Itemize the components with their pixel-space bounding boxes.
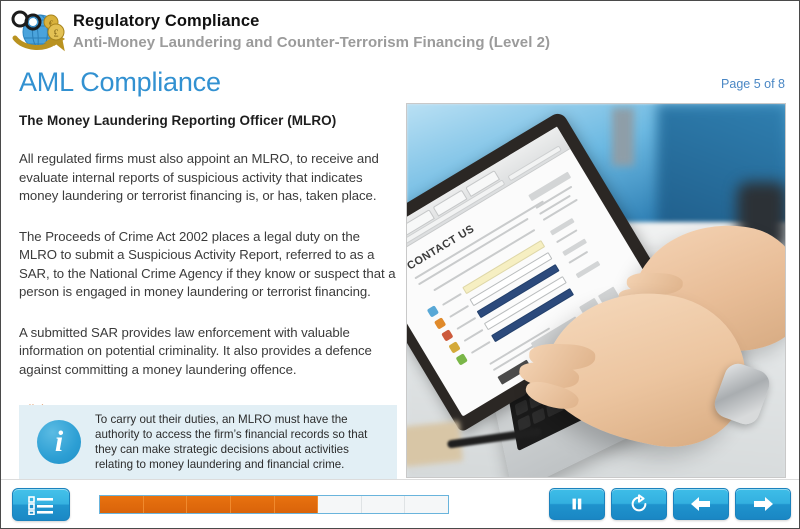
info-callout-text: To carry out their duties, an MLRO must … (95, 412, 397, 473)
section-heading: The Money Laundering Reporting Officer (… (19, 113, 397, 128)
pause-icon (568, 495, 586, 513)
progress-segment[interactable] (275, 496, 319, 513)
next-button[interactable] (735, 488, 791, 520)
progress-segment[interactable] (318, 496, 362, 513)
progress-segment[interactable] (362, 496, 406, 513)
body-paragraph: A submitted SAR provides law enforcement… (19, 324, 397, 380)
course-player-frame: € £ Regulatory Compliance Anti-Money Lau… (0, 0, 800, 529)
course-title: Regulatory Compliance (73, 11, 550, 31)
image-background-post (612, 108, 634, 166)
info-icon: i (37, 420, 81, 464)
progress-segment[interactable] (405, 496, 448, 513)
content-column: The Money Laundering Reporting Officer (… (19, 113, 397, 431)
list-menu-icon (28, 495, 54, 515)
course-subtitle: Anti-Money Laundering and Counter-Terror… (73, 33, 550, 53)
progress-bar[interactable] (99, 495, 449, 514)
header-titles: Regulatory Compliance Anti-Money Launder… (73, 11, 550, 53)
progress-segment[interactable] (231, 496, 275, 513)
pause-button[interactable] (549, 488, 605, 520)
body-paragraph: The Proceeds of Crime Act 2002 places a … (19, 228, 397, 302)
menu-button[interactable] (12, 488, 70, 521)
player-toolbar (1, 479, 799, 528)
arrow-right-icon (751, 495, 775, 513)
replay-button[interactable] (611, 488, 667, 520)
progress-segment[interactable] (187, 496, 231, 513)
svg-text:£: £ (54, 29, 59, 40)
page-title: AML Compliance (19, 67, 221, 98)
lesson-image: CONTACT US (406, 103, 786, 478)
handcuffs-globe-money-logo: € £ (7, 8, 69, 56)
back-button[interactable] (673, 488, 729, 520)
progress-segment[interactable] (100, 496, 144, 513)
replay-icon (629, 494, 649, 514)
arrow-left-icon (689, 495, 713, 513)
page-counter: Page 5 of 8 (721, 77, 785, 91)
progress-segment[interactable] (144, 496, 188, 513)
body-paragraph: All regulated firms must also appoint an… (19, 150, 397, 206)
header: € £ Regulatory Compliance Anti-Money Lau… (1, 1, 800, 63)
info-callout: i To carry out their duties, an MLRO mus… (19, 405, 397, 479)
